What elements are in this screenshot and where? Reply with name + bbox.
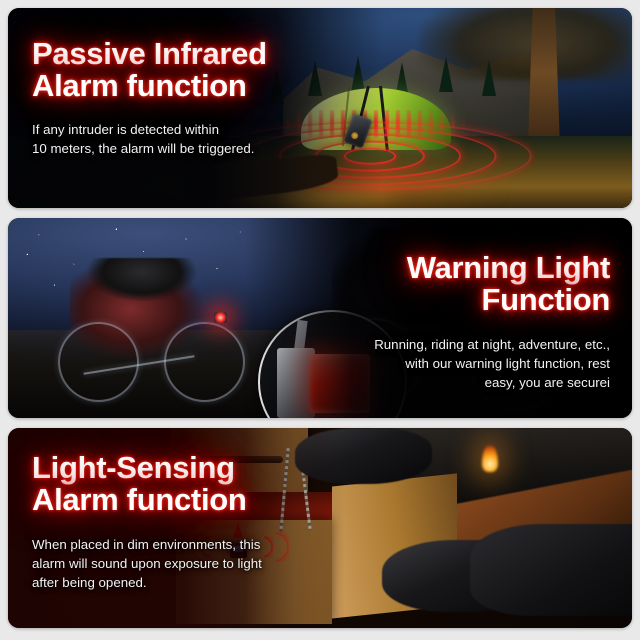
panel-warning-light: Warning Light Function Running, riding a… <box>8 218 632 418</box>
body-line: Running, riding at night, adventure, etc… <box>374 336 610 355</box>
panel-title: Warning Light Function <box>374 252 610 316</box>
body-line: If any intruder is detected within <box>32 121 267 140</box>
body-line: easy, you are securei <box>374 374 610 393</box>
title-line: Light-Sensing <box>32 452 262 484</box>
title-line: Passive Infrared <box>32 38 267 70</box>
panel-light-sensing: Light-Sensing Alarm function When placed… <box>8 428 632 628</box>
body-line: When placed in dim environments, this <box>32 536 262 555</box>
panel-description: When placed in dim environments, this al… <box>32 536 262 593</box>
panel-copy: Passive Infrared Alarm function If any i… <box>32 38 267 159</box>
title-line: Warning Light <box>374 252 610 284</box>
panel-title: Light-Sensing Alarm function <box>32 452 262 516</box>
panel-passive-infrared: Passive Infrared Alarm function If any i… <box>8 8 632 208</box>
title-line: Alarm function <box>32 70 267 102</box>
title-line: Alarm function <box>32 484 262 516</box>
panel-title: Passive Infrared Alarm function <box>32 38 267 102</box>
panel-copy: Light-Sensing Alarm function When placed… <box>32 452 262 593</box>
panel-description: Running, riding at night, adventure, etc… <box>374 336 610 393</box>
body-line: 10 meters, the alarm will be triggered. <box>32 140 267 159</box>
body-line: alarm will sound upon exposure to light <box>32 555 262 574</box>
body-line: with our warning light function, rest <box>374 355 610 374</box>
body-line: after being opened. <box>32 574 262 593</box>
title-line: Function <box>374 284 610 316</box>
panel-copy: Warning Light Function Running, riding a… <box>374 252 610 393</box>
feature-panels-page: Passive Infrared Alarm function If any i… <box>0 0 640 640</box>
panel-description: If any intruder is detected within 10 me… <box>32 121 267 159</box>
